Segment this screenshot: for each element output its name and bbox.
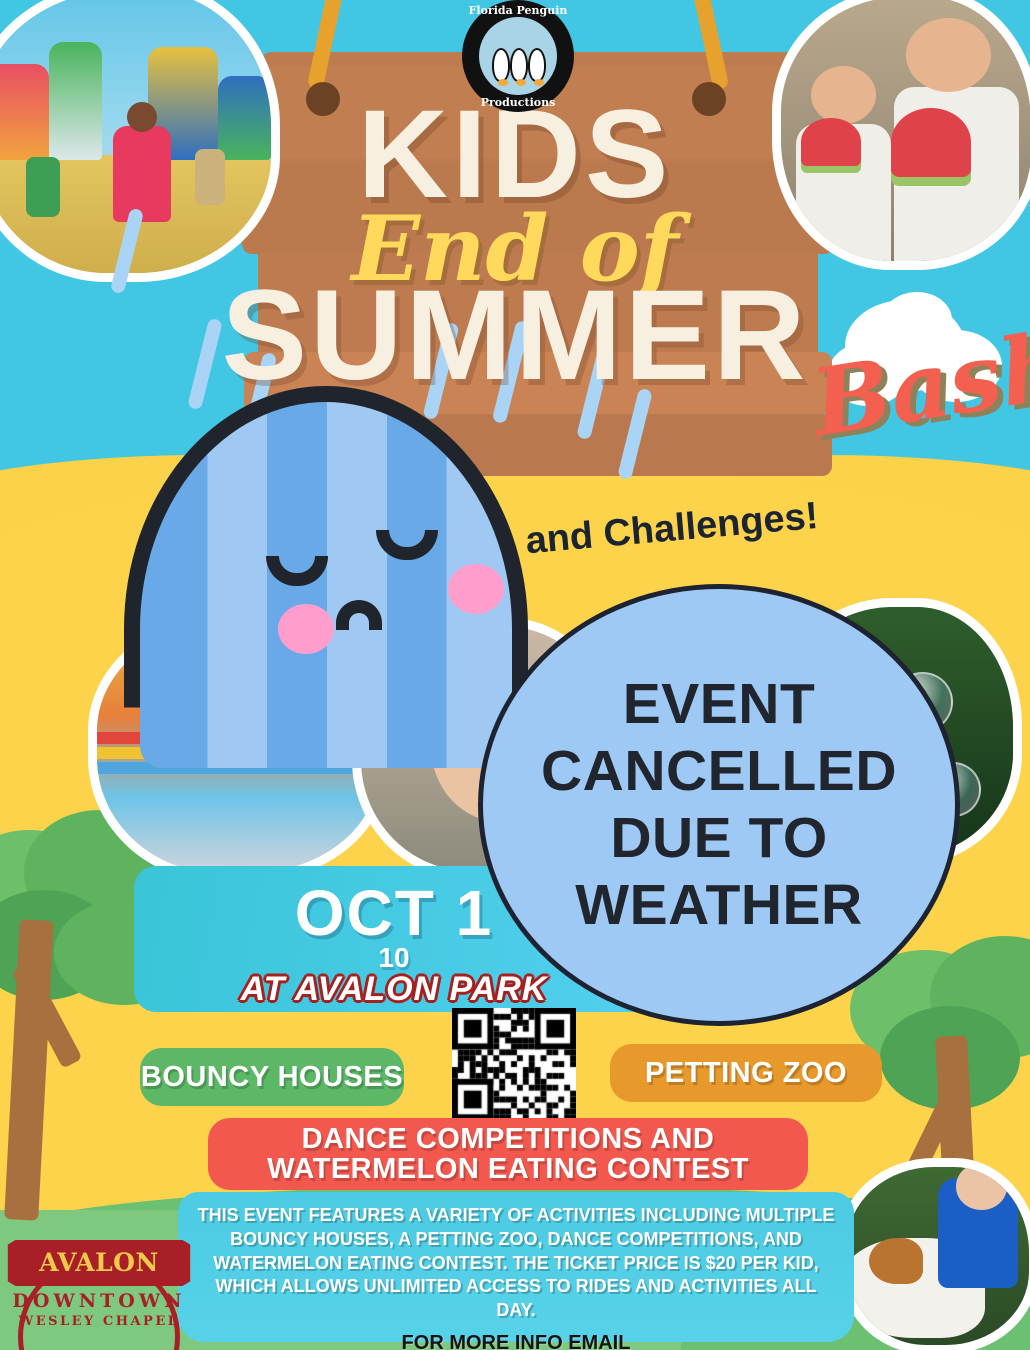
- event-description: THIS EVENT FEATURES A VARIETY OF ACTIVIT…: [194, 1204, 838, 1323]
- logo-text-top: Florida Penguin: [462, 4, 574, 17]
- activity-pill-dance-watermelon: DANCE COMPETITIONS AND WATERMELON EATING…: [208, 1118, 808, 1190]
- cancelled-text: EVENT CANCELLED DUE TO WEATHER: [483, 671, 955, 940]
- activity-pill-petting-zoo: PETTING ZOO: [610, 1044, 882, 1102]
- sad-umbrella-icon: [118, 378, 536, 790]
- qr-code[interactable]: [452, 1008, 576, 1118]
- activity-pill-bouncy-houses: BOUNCY HOUSES: [140, 1048, 404, 1106]
- event-info-box: THIS EVENT FEATURES A VARIETY OF ACTIVIT…: [178, 1192, 854, 1342]
- event-flyer: KIDS End of SUMMER Bash Join us for Fun …: [0, 0, 1030, 1350]
- sponsor-line3: WESLEY CHAPEL: [4, 1314, 194, 1329]
- event-cancelled-overlay: EVENT CANCELLED DUE TO WEATHER: [478, 584, 960, 1026]
- sponsor-line2: DOWNTOWN: [4, 1290, 194, 1312]
- logo-text-bottom: Productions: [462, 96, 574, 109]
- florida-penguin-productions-logo: Florida Penguin Productions: [462, 0, 574, 112]
- pony-ride-photo: [838, 1158, 1030, 1350]
- contact-email-line: FOR MORE INFO EMAIL LK@FLORIDAPENGUINPRO…: [194, 1330, 838, 1350]
- avalon-park-logo: AVALON PARK DOWNTOWN WESLEY CHAPEL: [4, 1228, 194, 1346]
